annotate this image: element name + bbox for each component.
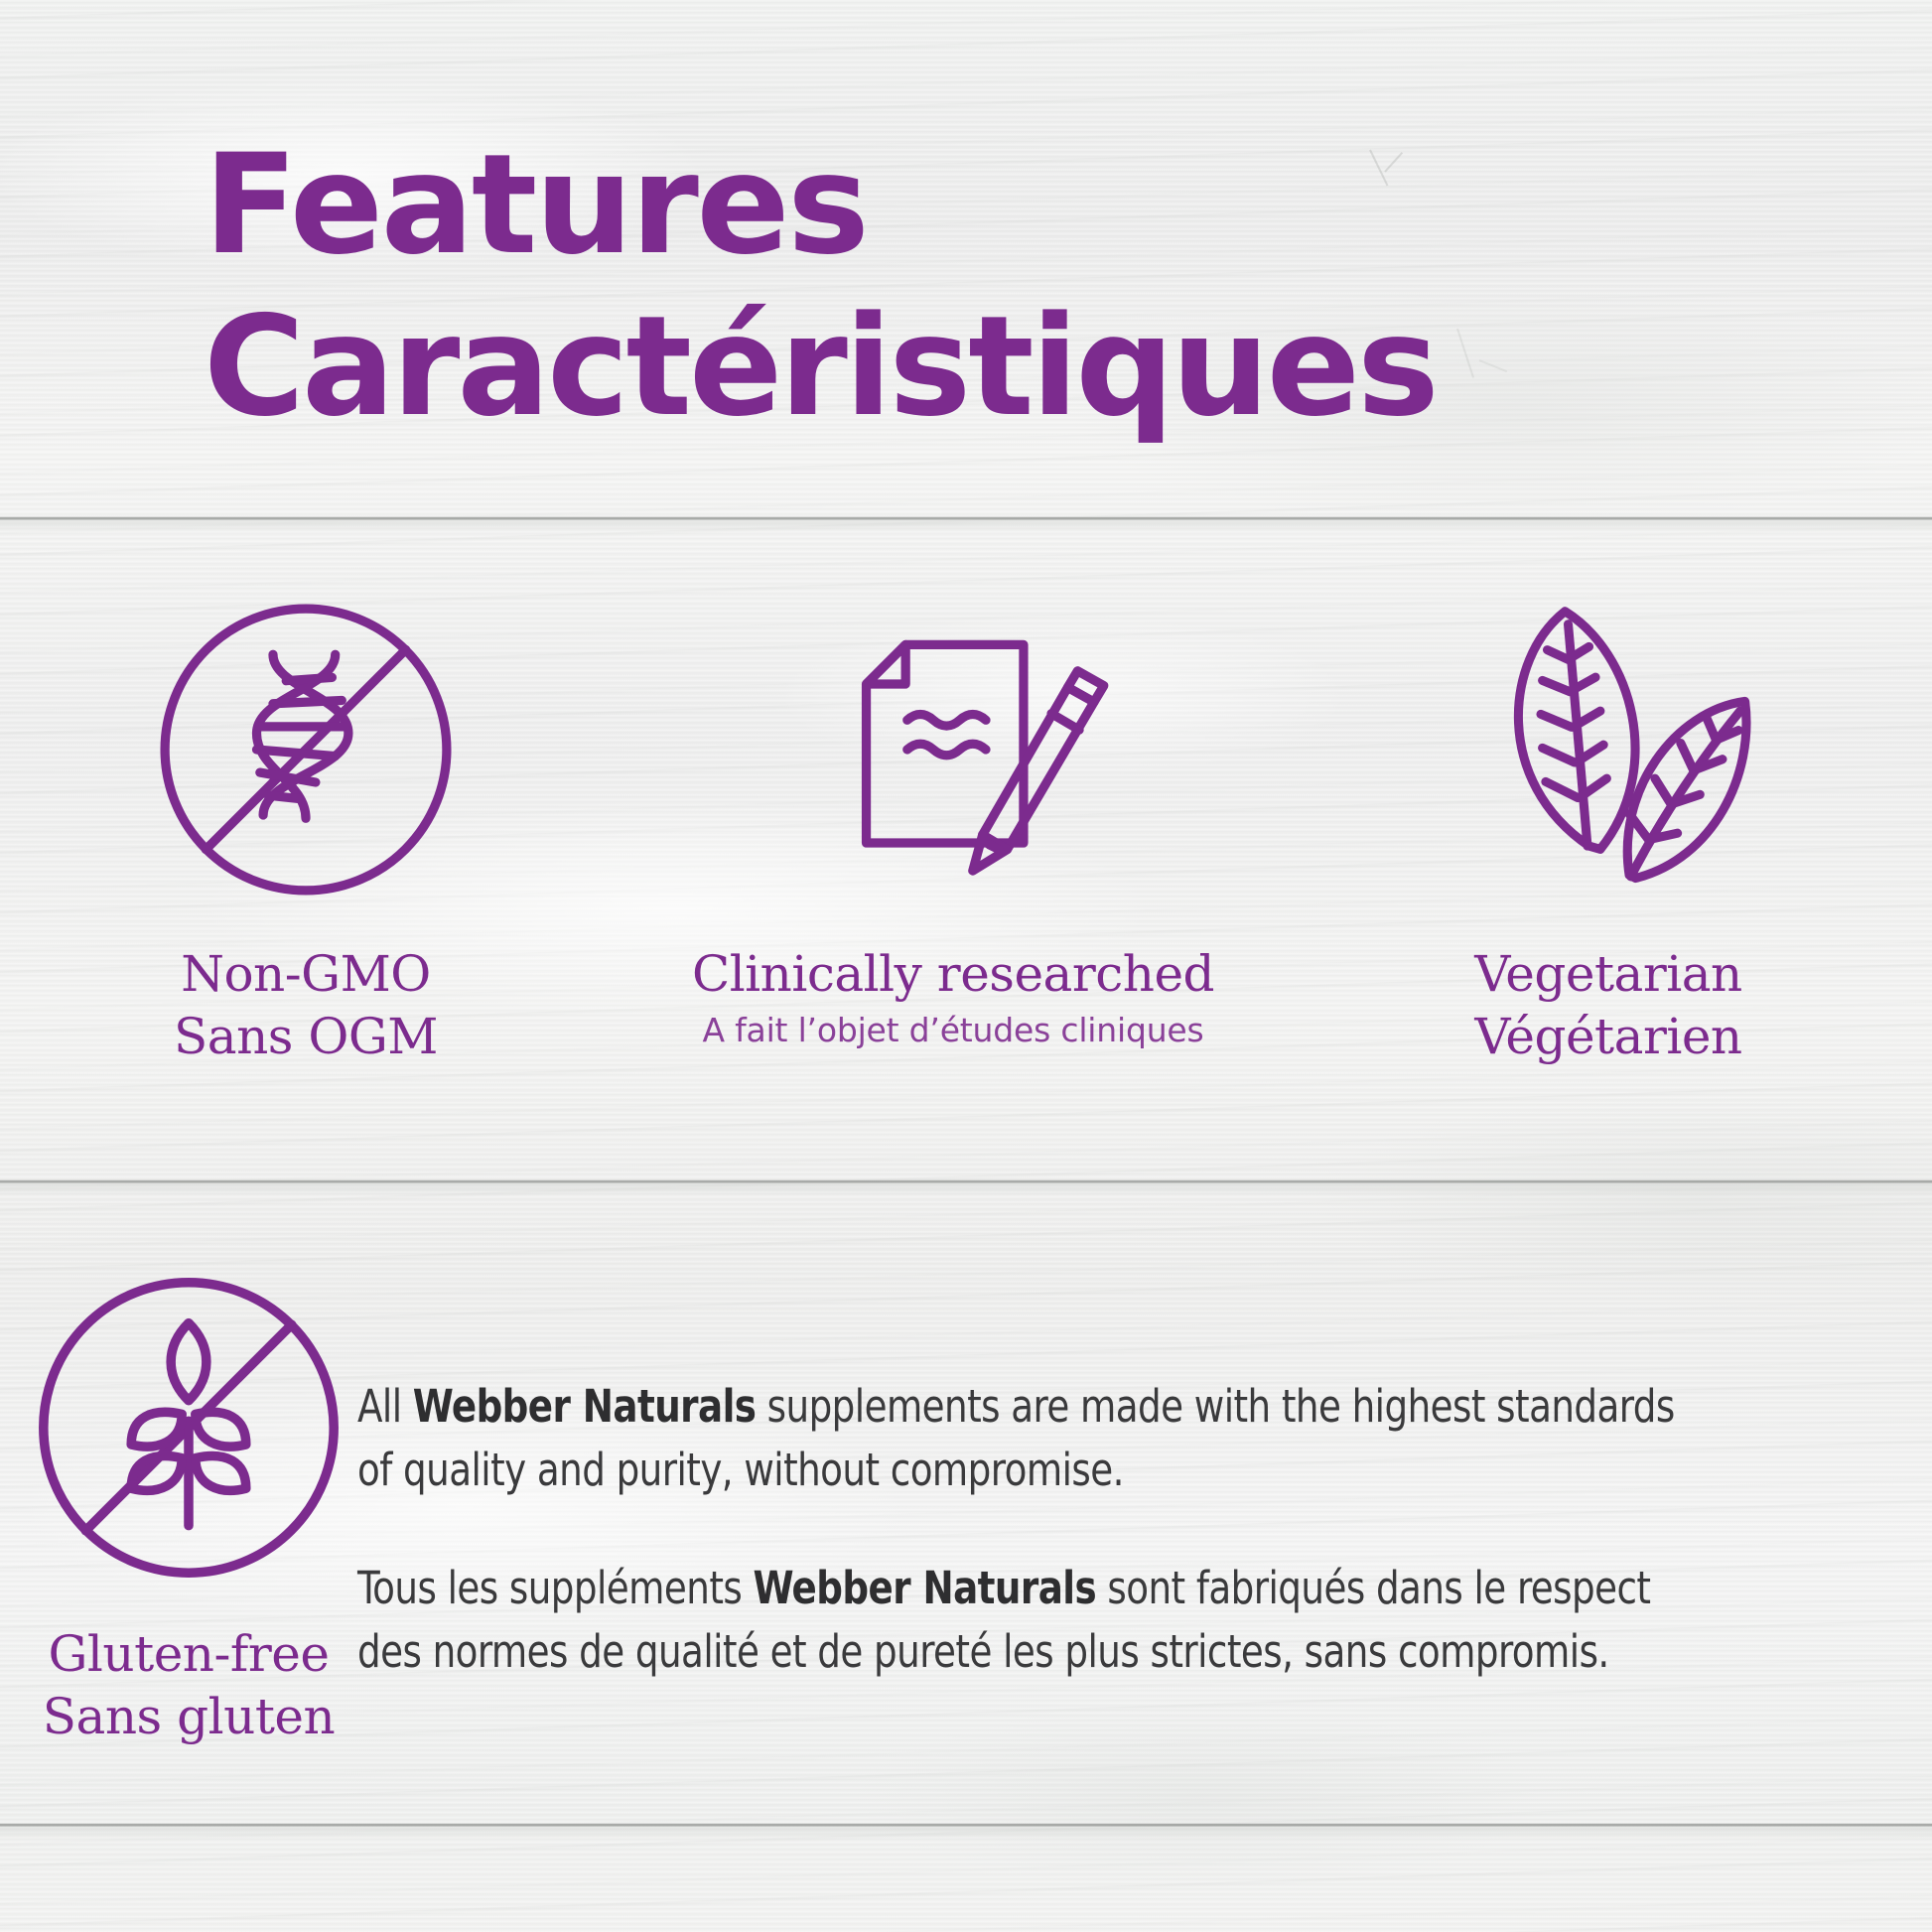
page-title-line-en: Features [204,124,1437,286]
clipboard-pen-icon [789,586,1117,913]
feature-gluten-free-label: Gluten-free Sans gluten [43,1623,335,1747]
feature-vegetarian-label-en: Vegetarian [1474,943,1742,1006]
feature-clinically-researched: Clinically researched A fait l’objet d’é… [629,556,1277,1067]
no-gmo-dna-icon [142,586,470,913]
brand-name-en: Webber Naturals [413,1380,757,1433]
feature-clinically-researched-label-en: Clinically researched [692,943,1214,1006]
clipboard-pen-icon-wrap [789,556,1117,943]
feature-clinically-researched-label: Clinically researched [692,943,1214,1006]
feature-gluten-free-label-en: Gluten-free [43,1623,335,1686]
feature-vegetarian: Vegetarian Végétarien [1285,556,1932,1067]
no-gluten-wheat-icon [20,1259,357,1596]
feature-row-top: Non-GMO Sans OGM [0,556,1932,1067]
feature-non-gmo-label-fr: Sans OGM [174,1006,438,1068]
feature-gluten-free: Gluten-free Sans gluten [0,1231,357,1747]
feature-gluten-free-label-fr: Sans gluten [43,1686,335,1748]
feature-non-gmo-label: Non-GMO Sans OGM [174,943,438,1067]
leaves-icon-wrap [1440,556,1777,943]
brand-name-fr: Webber Naturals [753,1562,1096,1614]
quality-statement-fr: Tous les suppléments Webber Naturals son… [357,1557,1678,1684]
page-title: Features Caractéristiques [204,124,1437,447]
leaves-icon [1440,586,1777,913]
feature-vegetarian-label: Vegetarian Végétarien [1474,943,1742,1067]
no-gmo-dna-icon-wrap [142,556,470,943]
quality-statement-en-pre: All [357,1380,413,1433]
feature-non-gmo-label-en: Non-GMO [174,943,438,1006]
quality-statement-fr-pre: Tous les suppléments [357,1562,753,1614]
page-title-line-fr: Caractéristiques [204,286,1437,448]
feature-vegetarian-label-fr: Végétarien [1474,1006,1742,1068]
product-features-panel: Features Caractéristiques [0,0,1932,1932]
feature-clinically-researched-sublabel: A fait l’objet d’études cliniques [702,1010,1203,1052]
quality-statement-en: All Webber Naturals supplements are made… [357,1375,1678,1502]
feature-non-gmo: Non-GMO Sans OGM [0,556,629,1067]
quality-statement: All Webber Naturals supplements are made… [357,1231,1932,1728]
no-gluten-wheat-icon-wrap [20,1231,357,1623]
feature-row-bottom: Gluten-free Sans gluten All Webber Natur… [0,1231,1932,1747]
